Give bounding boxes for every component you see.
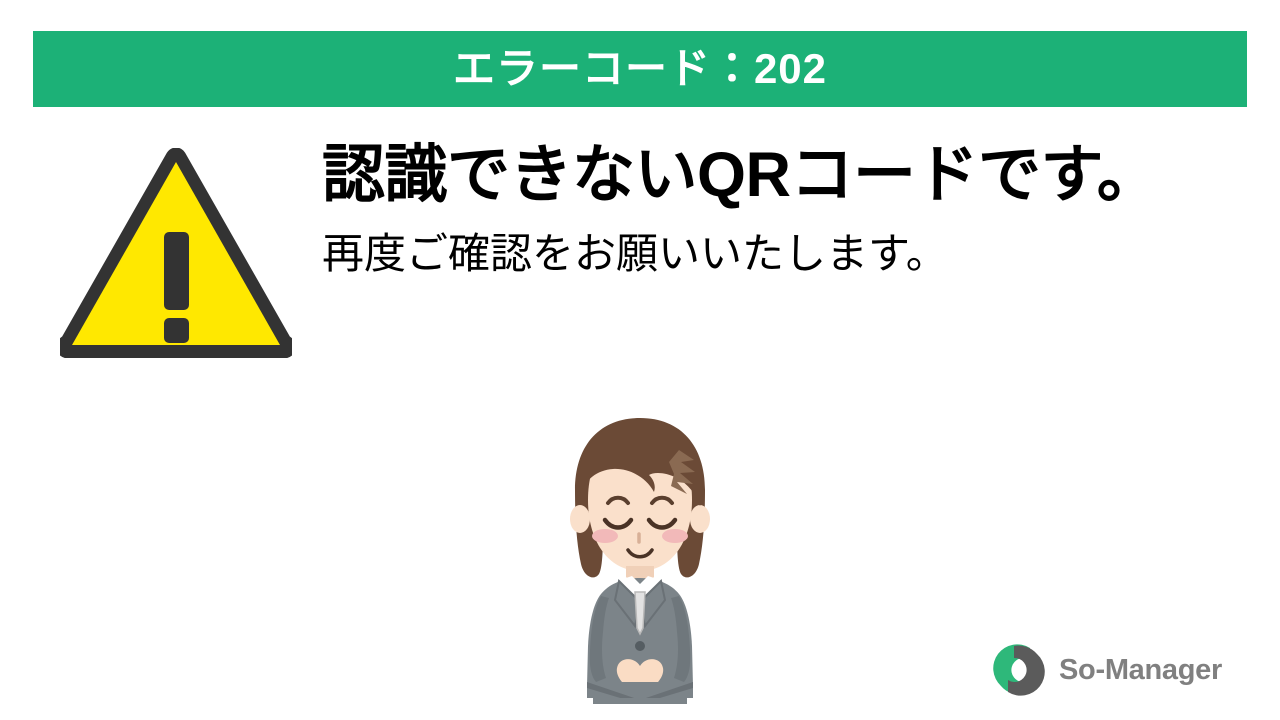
error-code-title: エラーコード：202 bbox=[453, 48, 827, 90]
so-manager-logo-text: So-Manager bbox=[1059, 656, 1222, 685]
error-message-texts: 認識できないQRコードです。 再度ご確認をお願いいたします。 bbox=[322, 140, 1262, 279]
error-page: エラーコード：202 認識できないQRコードです。 再度ご確認をお願いいたします… bbox=[0, 0, 1280, 720]
so-manager-logo-mark bbox=[991, 642, 1047, 698]
bowing-businesswoman-illustration bbox=[553, 414, 727, 706]
error-headline: 認識できないQRコードです。 bbox=[322, 140, 1262, 211]
warning-triangle-icon bbox=[60, 148, 292, 358]
so-manager-logo: So-Manager bbox=[991, 638, 1222, 702]
error-message-area: 認識できないQRコードです。 再度ご確認をお願いいたします。 bbox=[0, 140, 1280, 370]
error-subline: 再度ご確認をお願いいたします。 bbox=[322, 229, 1262, 279]
error-header-banner: エラーコード：202 bbox=[33, 31, 1247, 107]
